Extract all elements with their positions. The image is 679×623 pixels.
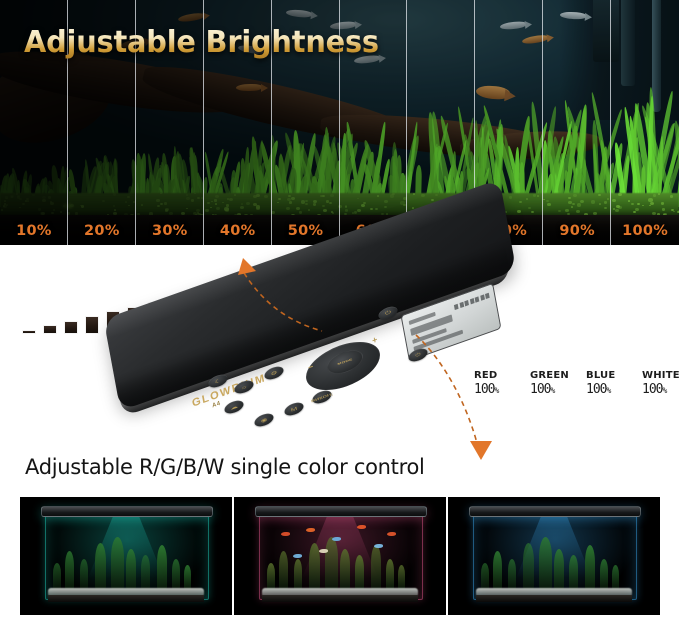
channel-value: 100% — [586, 382, 630, 397]
brightness-panel: 90% — [543, 0, 611, 245]
brightness-label: 30% — [136, 223, 204, 239]
led-light-bar — [255, 506, 427, 517]
brightness-label: 40% — [204, 223, 272, 239]
plus-icon[interactable]: + — [371, 334, 378, 346]
plant — [141, 555, 150, 589]
channel-value: 100% — [642, 382, 679, 397]
plant — [325, 537, 338, 589]
plant — [386, 559, 394, 589]
led-light-bar — [469, 506, 641, 517]
brightness-label: 20% — [68, 223, 136, 239]
brightness-label: 90% — [543, 223, 611, 239]
tank-teal — [20, 497, 232, 615]
channel-value: 100% — [474, 382, 518, 397]
plant — [172, 559, 180, 589]
brightness-comparison-strip: 10%20%30%40%50%60%70%80%90%100% Adjustab… — [0, 0, 679, 245]
brightness-label: 10% — [0, 223, 68, 239]
color-button[interactable]: ◉ — [254, 411, 275, 428]
plant — [569, 555, 578, 589]
plant — [554, 549, 564, 589]
plant — [279, 551, 288, 589]
plant — [294, 559, 302, 589]
plant — [53, 563, 61, 589]
plant — [493, 551, 502, 589]
sun-mode-button[interactable]: ☼ — [234, 378, 255, 395]
plant — [111, 537, 124, 589]
cloud-mode-button[interactable]: ☁ — [224, 398, 245, 415]
rgbw-readout: RED100%GREEN100%BLUE100%WHITE100% — [474, 370, 679, 397]
brightness-label: 100% — [611, 223, 679, 239]
tank-floor — [476, 595, 633, 602]
plant — [398, 565, 405, 589]
plant — [612, 565, 619, 589]
ramp-bar — [43, 325, 57, 334]
fish — [306, 528, 315, 532]
fish — [332, 537, 341, 541]
channel-name: WHITE — [642, 370, 679, 381]
channel-name: RED — [474, 370, 518, 381]
channel-name: GREEN — [530, 370, 574, 381]
settings-button[interactable]: ⚙ — [264, 364, 285, 381]
memory-button[interactable]: M — [284, 400, 305, 417]
plant — [95, 543, 106, 589]
tank-plants — [478, 528, 631, 589]
tank-plants — [50, 528, 203, 589]
tank-floor — [48, 595, 205, 602]
plant — [508, 559, 516, 589]
ramp-bar — [85, 316, 99, 334]
section-heading: Adjustable R/G/B/W single color control — [25, 455, 425, 479]
channel-readout: GREEN100% — [530, 370, 574, 397]
plant — [523, 543, 534, 589]
channel-readout: RED100% — [474, 370, 518, 397]
channel-name: BLUE — [586, 370, 630, 381]
channel-value: 100% — [530, 382, 574, 397]
plant — [585, 545, 595, 589]
led-light-bar — [41, 506, 213, 517]
model-label: A4 — [212, 401, 221, 410]
tank-blue — [448, 497, 660, 615]
tank-floor — [262, 595, 419, 602]
plant — [65, 551, 74, 589]
channel-readout: BLUE100% — [586, 370, 630, 397]
plant — [157, 545, 167, 589]
plant — [126, 549, 136, 589]
plant — [371, 545, 381, 589]
tank-gallery — [20, 497, 660, 615]
channel-readout: WHITE100% — [642, 370, 679, 397]
fish — [293, 554, 302, 558]
page-title: Adjustable Brightness — [24, 25, 379, 60]
plant — [539, 537, 552, 589]
tank-magenta — [234, 497, 446, 615]
plant — [184, 565, 191, 589]
lcd-level-blocks — [454, 293, 490, 310]
product-infographic: 10%20%30%40%50%60%70%80%90%100% Adjustab… — [0, 0, 679, 623]
plant — [481, 563, 489, 589]
brightness-panel: 100% — [611, 0, 679, 245]
remote-control: GLOWRIUM A4 MODE + − ⏻ ⏱ ⚙ ☼ ☾ ☁ — [112, 267, 542, 452]
plant — [267, 563, 275, 589]
ramp-bar — [64, 321, 78, 334]
plant — [340, 549, 350, 589]
fish — [319, 549, 328, 553]
brightness-label: 50% — [272, 223, 340, 239]
ramp-bar — [22, 330, 36, 334]
plant — [600, 559, 608, 589]
clock-button[interactable]: викон; — [312, 388, 333, 405]
plant — [80, 559, 88, 589]
plant — [355, 555, 364, 589]
